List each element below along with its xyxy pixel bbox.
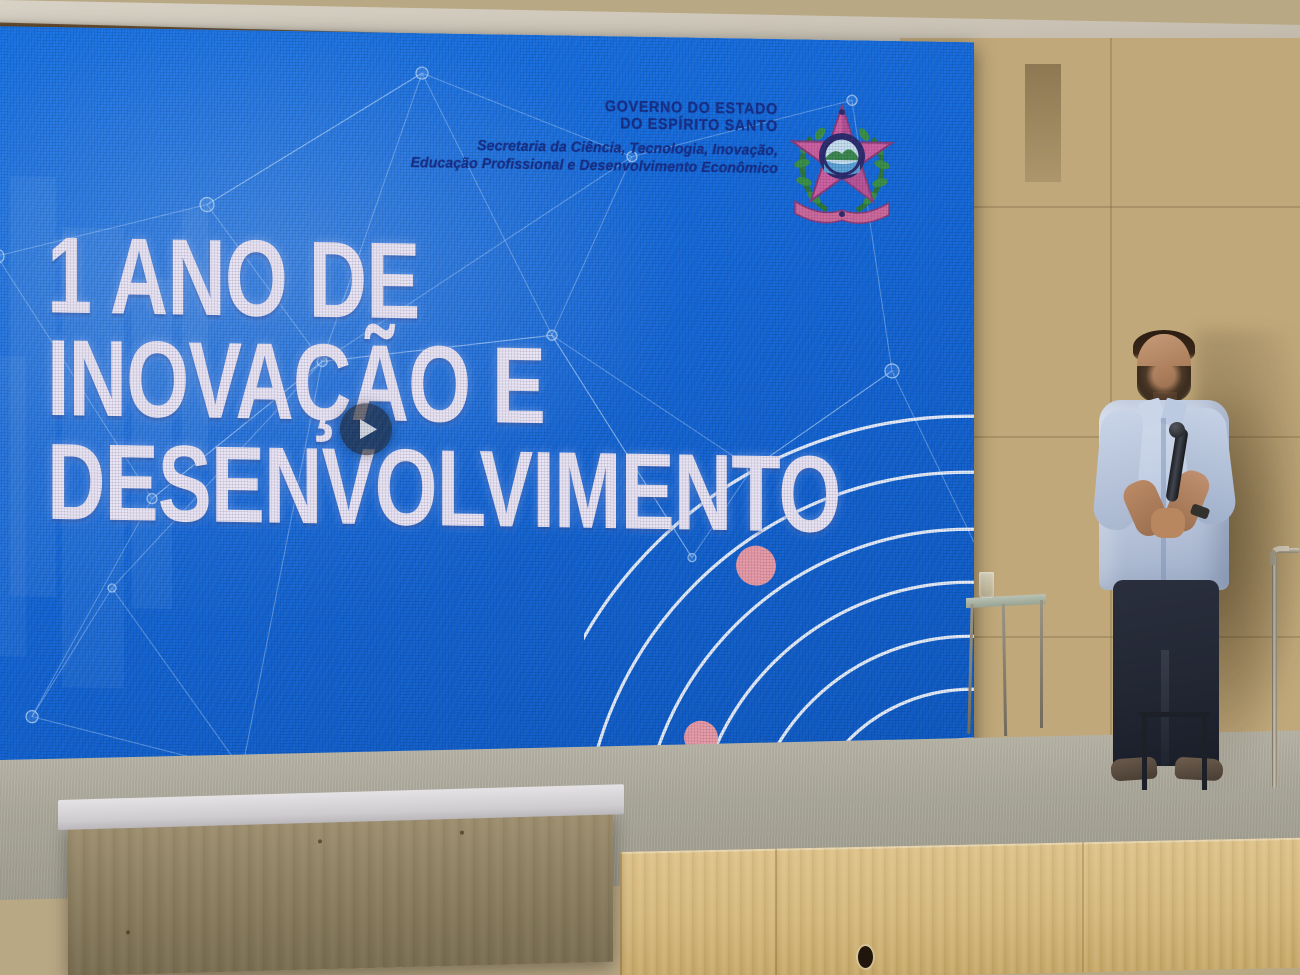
stage-riser	[620, 838, 1300, 975]
led-screen: GOVERNO DO ESTADO DO ESPÍRITO SANTO Secr…	[0, 26, 974, 794]
podium-body	[68, 810, 613, 975]
led-pixel-grid	[0, 26, 974, 794]
water-glass	[979, 572, 994, 598]
riser-cable-hole	[858, 946, 873, 968]
hands	[1151, 508, 1185, 538]
stool	[1140, 712, 1212, 790]
podium	[58, 800, 624, 975]
wall-recess	[1025, 64, 1061, 182]
photo-scene: GOVERNO DO ESTADO DO ESPÍRITO SANTO Secr…	[0, 0, 1300, 975]
table-leg	[1040, 600, 1043, 728]
